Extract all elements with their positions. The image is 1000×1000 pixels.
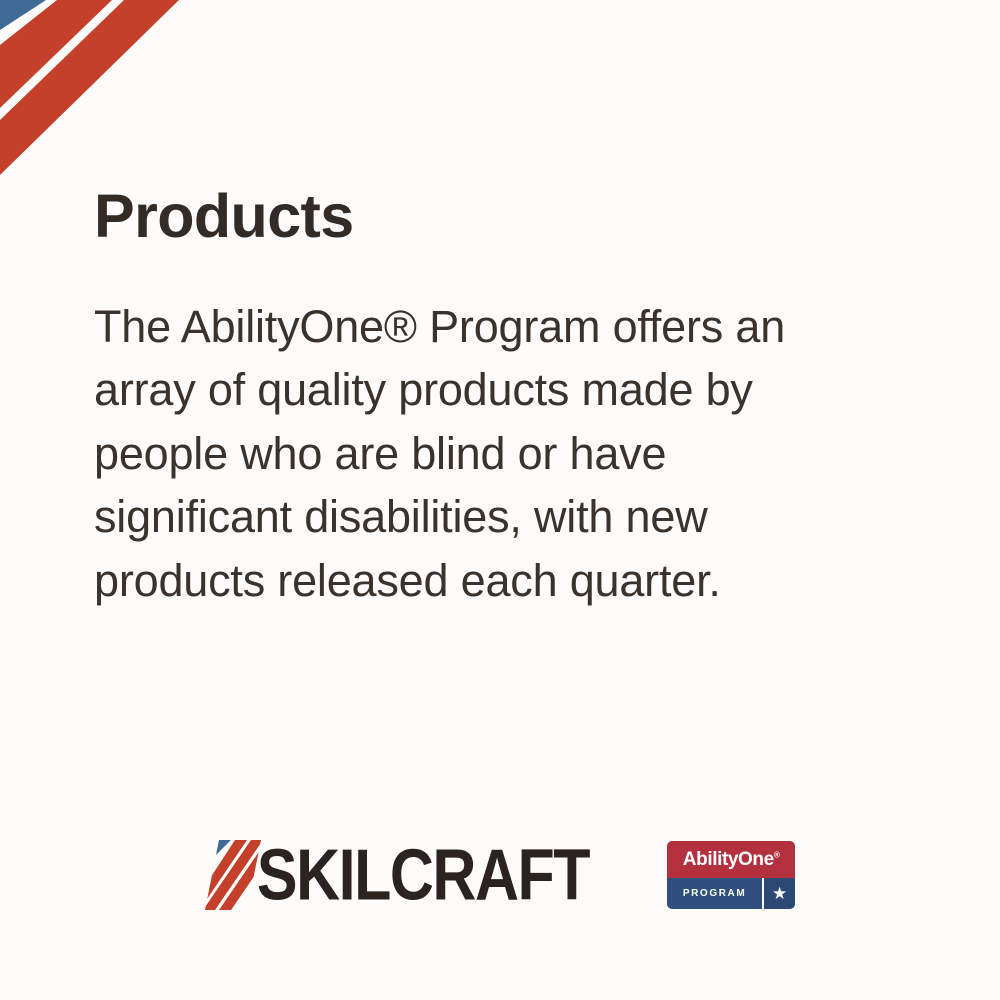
- corner-stripe-red-1: [0, 0, 112, 108]
- text-content: Products The AbilityOne® Program offers …: [94, 186, 884, 612]
- abilityone-star-block: ★: [764, 878, 795, 909]
- star-icon: ★: [772, 885, 787, 902]
- product-info-card: Products The AbilityOne® Program offers …: [0, 0, 1000, 1000]
- abilityone-logo-name-text: AbilityOne: [683, 849, 774, 870]
- abilityone-program-label: PROGRAM: [683, 889, 746, 899]
- abilityone-registered-mark: ®: [774, 851, 780, 860]
- skilcraft-wordmark: SKILCRAFT: [257, 839, 589, 911]
- skilcraft-stripe-mark-icon: [205, 840, 261, 910]
- page-body-text: The AbilityOne® Program offers an array …: [94, 295, 834, 612]
- skilcraft-logo: SKILCRAFT: [205, 840, 589, 910]
- corner-stripe-red-2: [0, 0, 179, 175]
- corner-stripe-blue: [0, 0, 46, 30]
- abilityone-logo-bottom: PROGRAM ★: [667, 878, 795, 909]
- page-title: Products: [94, 186, 884, 247]
- logo-row: SKILCRAFT AbilityOne® PROGRAM ★: [0, 815, 1000, 935]
- abilityone-logo-top: AbilityOne®: [667, 841, 795, 878]
- abilityone-logo: AbilityOne® PROGRAM ★: [667, 841, 795, 909]
- abilityone-program-block: PROGRAM: [667, 878, 762, 909]
- abilityone-logo-name: AbilityOne®: [683, 850, 780, 869]
